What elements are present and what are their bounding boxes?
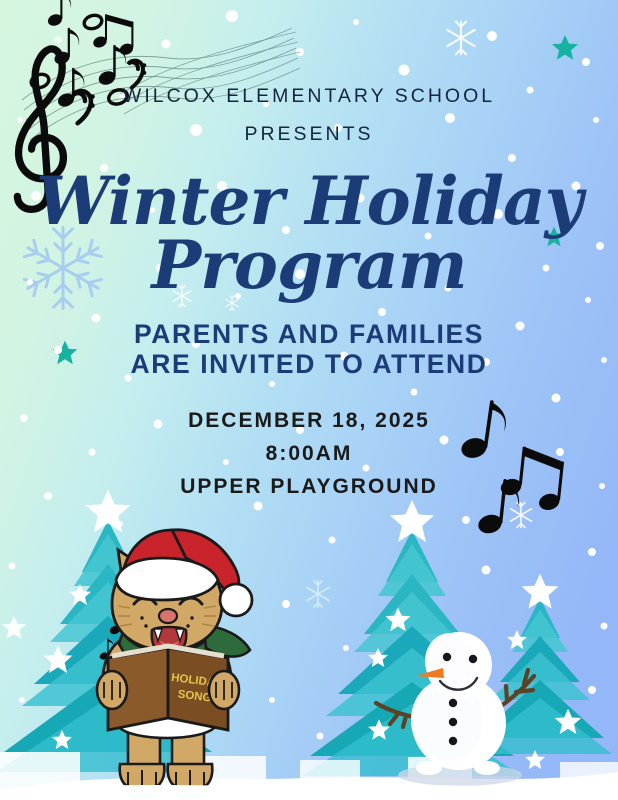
invite-line-2: ARE INVITED TO ATTEND xyxy=(0,349,618,379)
presents-label: PRESENTS xyxy=(0,123,618,146)
school-name: WILCOX ELEMENTARY SCHOOL xyxy=(0,86,618,107)
event-details: DECEMBER 18, 2025 8:00AM UPPER PLAYGROUN… xyxy=(0,405,618,503)
event-time: 8:00AM xyxy=(0,438,618,471)
title-line-2: Program xyxy=(0,232,618,299)
event-location: UPPER PLAYGROUND xyxy=(0,471,618,504)
event-date: DECEMBER 18, 2025 xyxy=(0,405,618,438)
winter-holiday-program-flyer: WILCOX ELEMENTARY SCHOOL PRESENTS Winter… xyxy=(0,0,618,800)
invite-line-1: PARENTS AND FAMILIES xyxy=(0,319,618,349)
flyer-text-stack: WILCOX ELEMENTARY SCHOOL PRESENTS Winter… xyxy=(0,0,618,503)
